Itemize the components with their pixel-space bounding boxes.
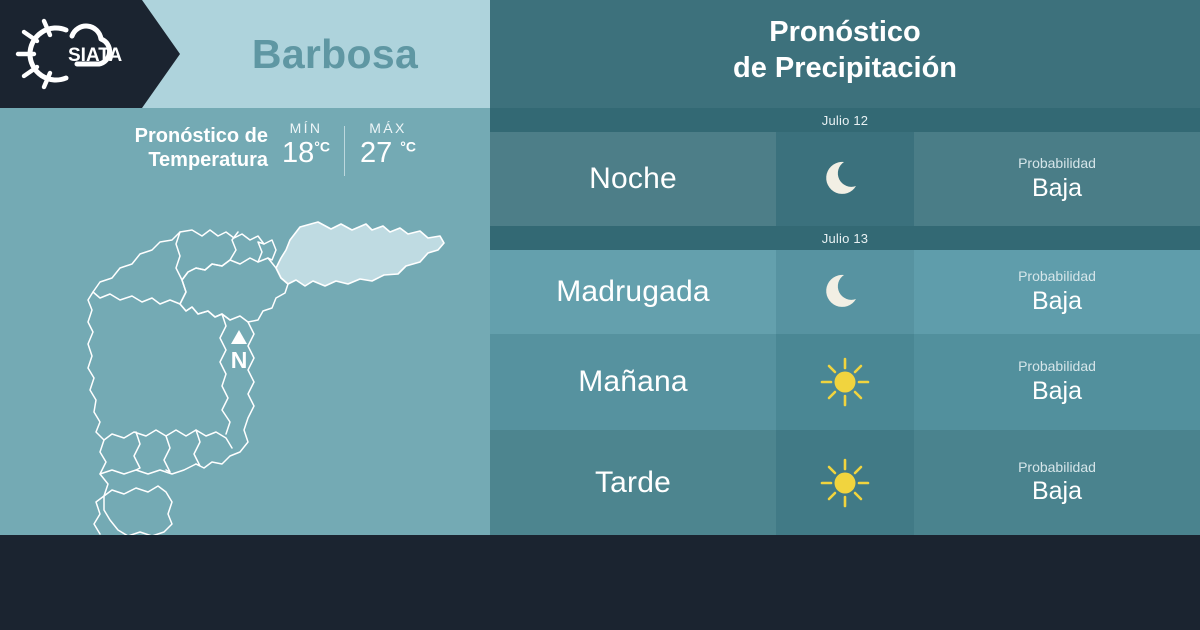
siata-logo-text: SIATA: [68, 45, 122, 66]
temperature-min-value: 18°C: [270, 137, 342, 170]
weather-forecast-poster: SIATA Barbosa Pronóstico de Temperatura …: [0, 0, 1200, 630]
probability-value: Baja: [1032, 286, 1082, 316]
forecast-row-noche[interactable]: Noche Probabilidad Baja: [490, 132, 1200, 226]
temperature-min: MÍN 18°C: [270, 120, 342, 170]
precipitation-title: Pronóstico de Precipitación: [490, 14, 1200, 87]
forecast-period-cell: Noche: [490, 132, 776, 226]
sun-icon: [818, 456, 872, 510]
forecast-row-madrugada[interactable]: Madrugada Probabilidad Baja: [490, 250, 1200, 334]
forecast-period-cell: Mañana: [490, 334, 776, 430]
city-name: Barbosa: [180, 0, 490, 108]
precipitation-title-line2: de Precipitación: [733, 52, 957, 84]
city-banner: SIATA Barbosa: [0, 0, 490, 108]
forecast-row-tarde[interactable]: Tarde Pro: [490, 430, 1200, 535]
temperature-min-unit: °C: [314, 138, 330, 154]
temperature-min-number: 18: [282, 137, 314, 169]
forecast-period-cell: Tarde: [490, 430, 776, 535]
forecast-probability-cell: Probabilidad Baja: [914, 250, 1200, 334]
temperature-max-number: 27: [360, 137, 392, 169]
moon-icon: [822, 156, 868, 202]
temperature-max-caption: MÁX: [348, 120, 428, 136]
temperature-min-caption: MÍN: [270, 120, 342, 136]
temperature-title-line2: Temperatura: [148, 149, 268, 171]
left-panel: SIATA Barbosa Pronóstico de Temperatura …: [0, 0, 490, 535]
forecast-icon-cell: [776, 334, 914, 430]
forecast-period-cell: Madrugada: [490, 250, 776, 334]
north-arrow: N: [231, 330, 248, 373]
forecast-period-label: Noche: [589, 162, 677, 196]
date-band-july-12: Julio 12: [490, 108, 1200, 132]
temperature-title: Pronóstico de Temperatura: [88, 124, 268, 173]
forecast-icon-cell: [776, 430, 914, 535]
temperature-max-value: 27 °C: [348, 137, 428, 170]
probability-caption: Probabilidad: [1018, 155, 1096, 171]
probability-value: Baja: [1032, 173, 1082, 203]
temperature-title-line1: Pronóstico de: [135, 125, 268, 147]
probability-caption: Probabilidad: [1018, 358, 1096, 374]
temperature-max: MÁX 27 °C: [348, 120, 428, 170]
forecast-probability-cell: Probabilidad Baja: [914, 334, 1200, 430]
forecast-period-label: Madrugada: [556, 275, 710, 309]
probability-value: Baja: [1032, 376, 1082, 406]
probability-value: Baja: [1032, 476, 1082, 506]
sun-icon: [818, 355, 872, 409]
precipitation-panel: Pronóstico de Precipitación Julio 12 Jul…: [490, 0, 1200, 535]
precipitation-title-line1: Pronóstico: [769, 16, 920, 48]
forecast-period-label: Mañana: [578, 365, 688, 399]
temperature-max-unit: °C: [400, 138, 416, 154]
sun-cloud-icon: SIATA: [14, 14, 126, 94]
probability-caption: Probabilidad: [1018, 459, 1096, 475]
date-band-july-13: Julio 13: [490, 226, 1200, 250]
forecast-probability-cell: Probabilidad Baja: [914, 132, 1200, 226]
moon-icon: [822, 269, 868, 315]
temperature-divider: [344, 126, 345, 176]
probability-caption: Probabilidad: [1018, 268, 1096, 284]
forecast-probability-cell: Probabilidad Baja: [914, 430, 1200, 535]
footer: @siatamedellin www.siata.gov.co Con el a…: [0, 535, 1200, 630]
forecast-icon-cell: [776, 250, 914, 334]
forecast-icon-cell: [776, 132, 914, 226]
map-svg: N: [0, 180, 490, 535]
forecast-period-label: Tarde: [595, 466, 671, 500]
forecast-row-manana[interactable]: Mañana Pr: [490, 334, 1200, 430]
north-label: N: [231, 347, 248, 373]
valle-de-aburra-map[interactable]: N: [0, 180, 490, 535]
map-region-borders: [88, 230, 288, 535]
map-region-barbosa: [276, 222, 444, 286]
siata-logo-badge[interactable]: SIATA: [0, 0, 180, 108]
